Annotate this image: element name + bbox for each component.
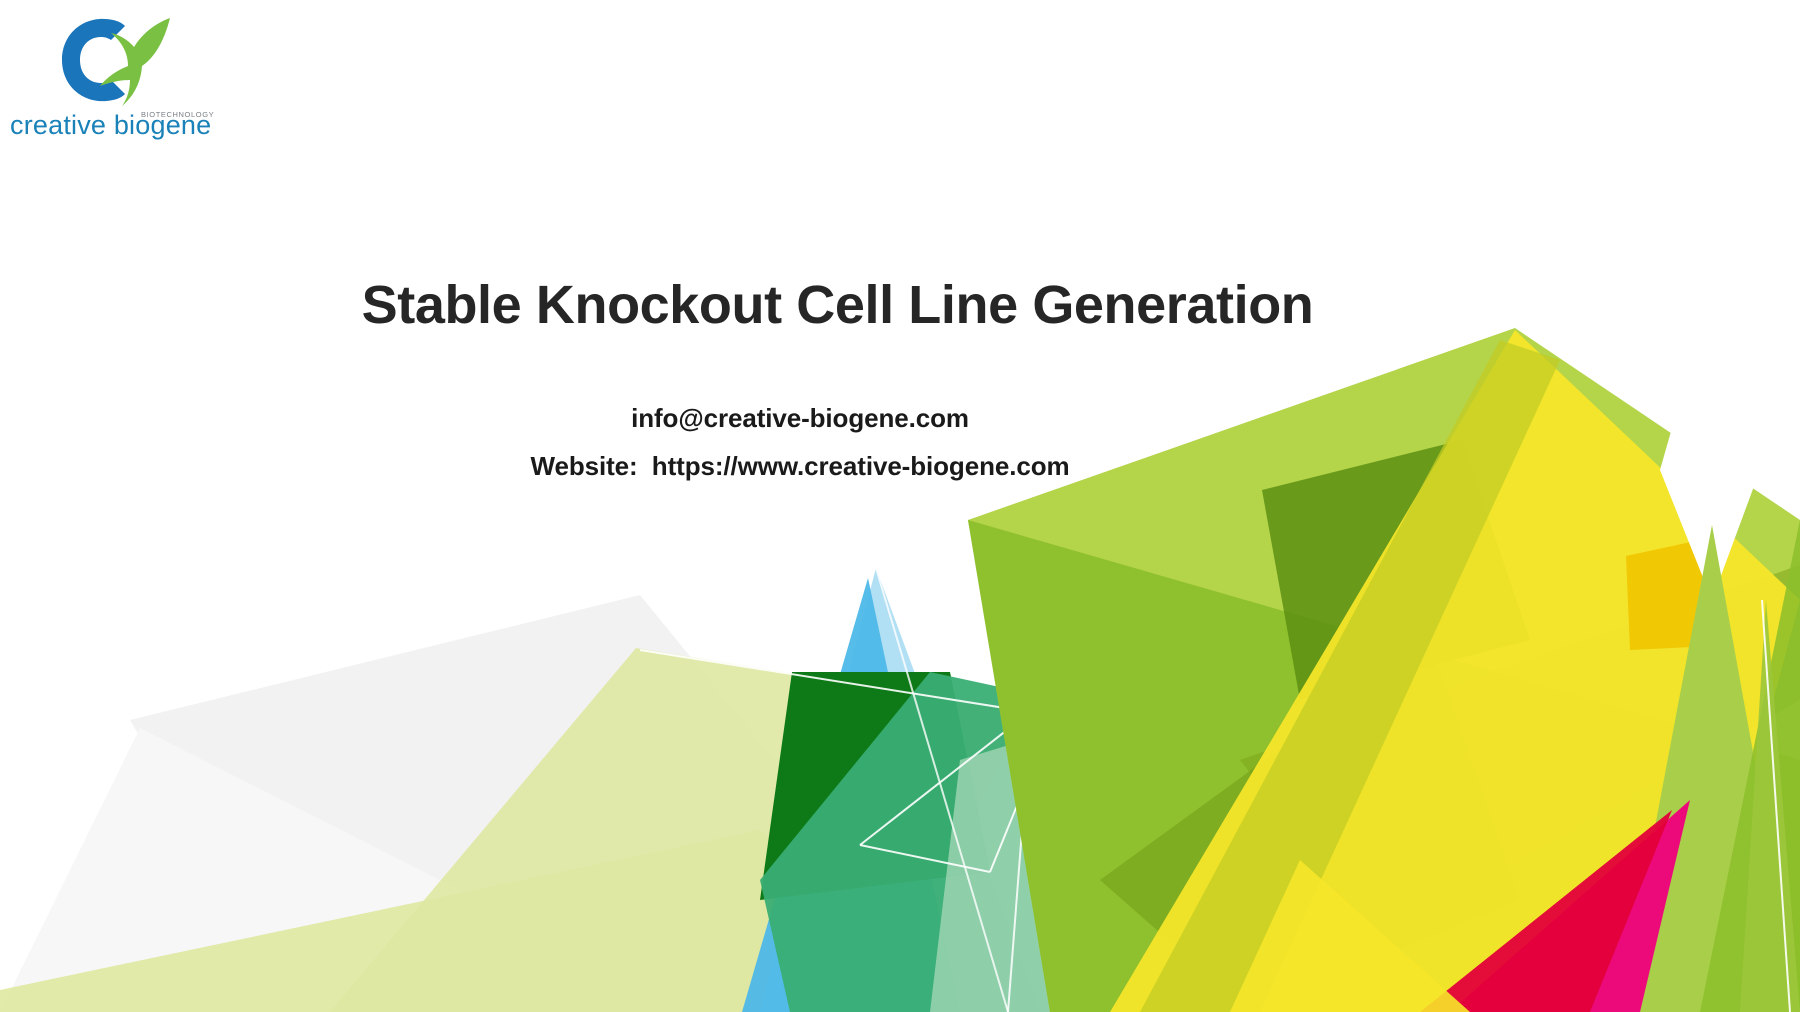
pale-blue-spike [760, 568, 1040, 1012]
sky-blue-spike [742, 578, 960, 1012]
white-hairline-2 [860, 712, 1030, 845]
white-hairline-5 [1008, 700, 1032, 1012]
right-green-spike-2 [1700, 520, 1800, 1012]
white-hairline-right [1762, 600, 1790, 1012]
white-hairline-6 [876, 568, 1008, 1012]
yellow-foreground-sliver [1230, 860, 1470, 1012]
pale-olive-wedge-2 [330, 648, 1030, 1012]
mid-green-overlay [968, 520, 1800, 1012]
dark-green-facet [1262, 440, 1530, 700]
cg-monogram-icon [56, 14, 176, 106]
brand-logo[interactable]: creative biogene BIOTECHNOLOGY [8, 14, 238, 142]
white-hairline-3 [860, 845, 990, 872]
contact-email[interactable]: info@creative-biogene.com [300, 405, 1300, 431]
decorative-polygon-artwork [0, 0, 1800, 1012]
magenta-spike [1450, 800, 1690, 1012]
forest-green-facet [760, 672, 990, 900]
pale-green-facet [930, 720, 1090, 1012]
white-hairline-4 [990, 700, 1060, 872]
right-green-spike-3 [1740, 600, 1800, 1012]
contact-website[interactable]: Website: https://www.creative-biogene.co… [300, 453, 1300, 479]
teal-green-body [760, 672, 1060, 1012]
page-title: Stable Knockout Cell Line Generation [310, 276, 1365, 335]
slide-root: creative biogene BIOTECHNOLOGY Stable Kn… [0, 0, 1800, 1012]
contact-block: info@creative-biogene.com Website: https… [300, 405, 1300, 479]
faint-gray-polygon [130, 595, 980, 1012]
right-green-spike-1 [1620, 525, 1800, 1012]
white-hairline-1 [640, 650, 1030, 712]
white-notch [1660, 330, 1760, 600]
olive-shadow-wedge [1240, 565, 1800, 940]
gold-facet [1626, 540, 1712, 650]
logo-tagline: BIOTECHNOLOGY [141, 110, 214, 119]
pale-olive-wedge [0, 830, 1000, 1012]
faint-gray-polygon-2 [0, 728, 700, 1012]
olive-shadow-wedge-2 [1100, 640, 1520, 1012]
crimson-spike [1420, 810, 1672, 1012]
